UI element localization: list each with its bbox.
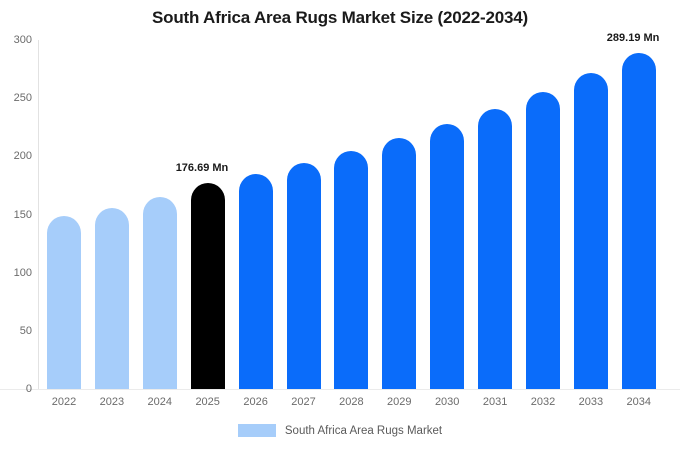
x-tick-2028: 2028 — [327, 396, 375, 408]
y-tick-300: 300 — [2, 34, 32, 46]
x-axis-line — [0, 389, 680, 390]
bar-2023[interactable] — [95, 208, 129, 389]
data-label-2034: 289.19 Mn — [607, 32, 660, 44]
bar-2027[interactable] — [287, 163, 321, 389]
bar-chart: South Africa Area Rugs Market Size (2022… — [0, 0, 680, 450]
x-tick-2025: 2025 — [184, 396, 232, 408]
y-tick-250: 250 — [2, 92, 32, 104]
x-tick-2023: 2023 — [88, 396, 136, 408]
y-tick-0: 0 — [2, 383, 32, 395]
chart-title: South Africa Area Rugs Market Size (2022… — [0, 8, 680, 28]
y-tick-100: 100 — [2, 267, 32, 279]
y-axis-line — [38, 40, 39, 389]
x-tick-2033: 2033 — [567, 396, 615, 408]
chart-legend: South Africa Area Rugs Market — [0, 424, 680, 437]
x-tick-2029: 2029 — [375, 396, 423, 408]
bar-2024[interactable] — [143, 197, 177, 389]
bar-2030[interactable] — [430, 124, 464, 389]
x-tick-2024: 2024 — [136, 396, 184, 408]
data-label-2025: 176.69 Mn — [176, 162, 229, 174]
bar-2026[interactable] — [239, 174, 273, 389]
bar-2032[interactable] — [526, 92, 560, 389]
bar-2033[interactable] — [574, 73, 608, 389]
legend-swatch-market — [238, 424, 276, 437]
x-tick-2022: 2022 — [40, 396, 88, 408]
y-tick-150: 150 — [2, 209, 32, 221]
x-tick-2032: 2032 — [519, 396, 567, 408]
y-tick-50: 50 — [2, 325, 32, 337]
legend-label-market: South Africa Area Rugs Market — [285, 425, 442, 437]
bar-2034[interactable] — [622, 53, 656, 389]
x-tick-2027: 2027 — [280, 396, 328, 408]
x-tick-2031: 2031 — [471, 396, 519, 408]
bar-2025[interactable] — [191, 183, 225, 389]
x-tick-2030: 2030 — [423, 396, 471, 408]
bar-2022[interactable] — [47, 216, 81, 389]
y-axis-tick-labels: 300 250 200 150 100 50 0 — [0, 0, 32, 450]
x-tick-2026: 2026 — [232, 396, 280, 408]
bar-2029[interactable] — [382, 138, 416, 389]
y-tick-200: 200 — [2, 150, 32, 162]
x-tick-2034: 2034 — [615, 396, 663, 408]
bar-2028[interactable] — [334, 151, 368, 389]
bar-2031[interactable] — [478, 109, 512, 389]
